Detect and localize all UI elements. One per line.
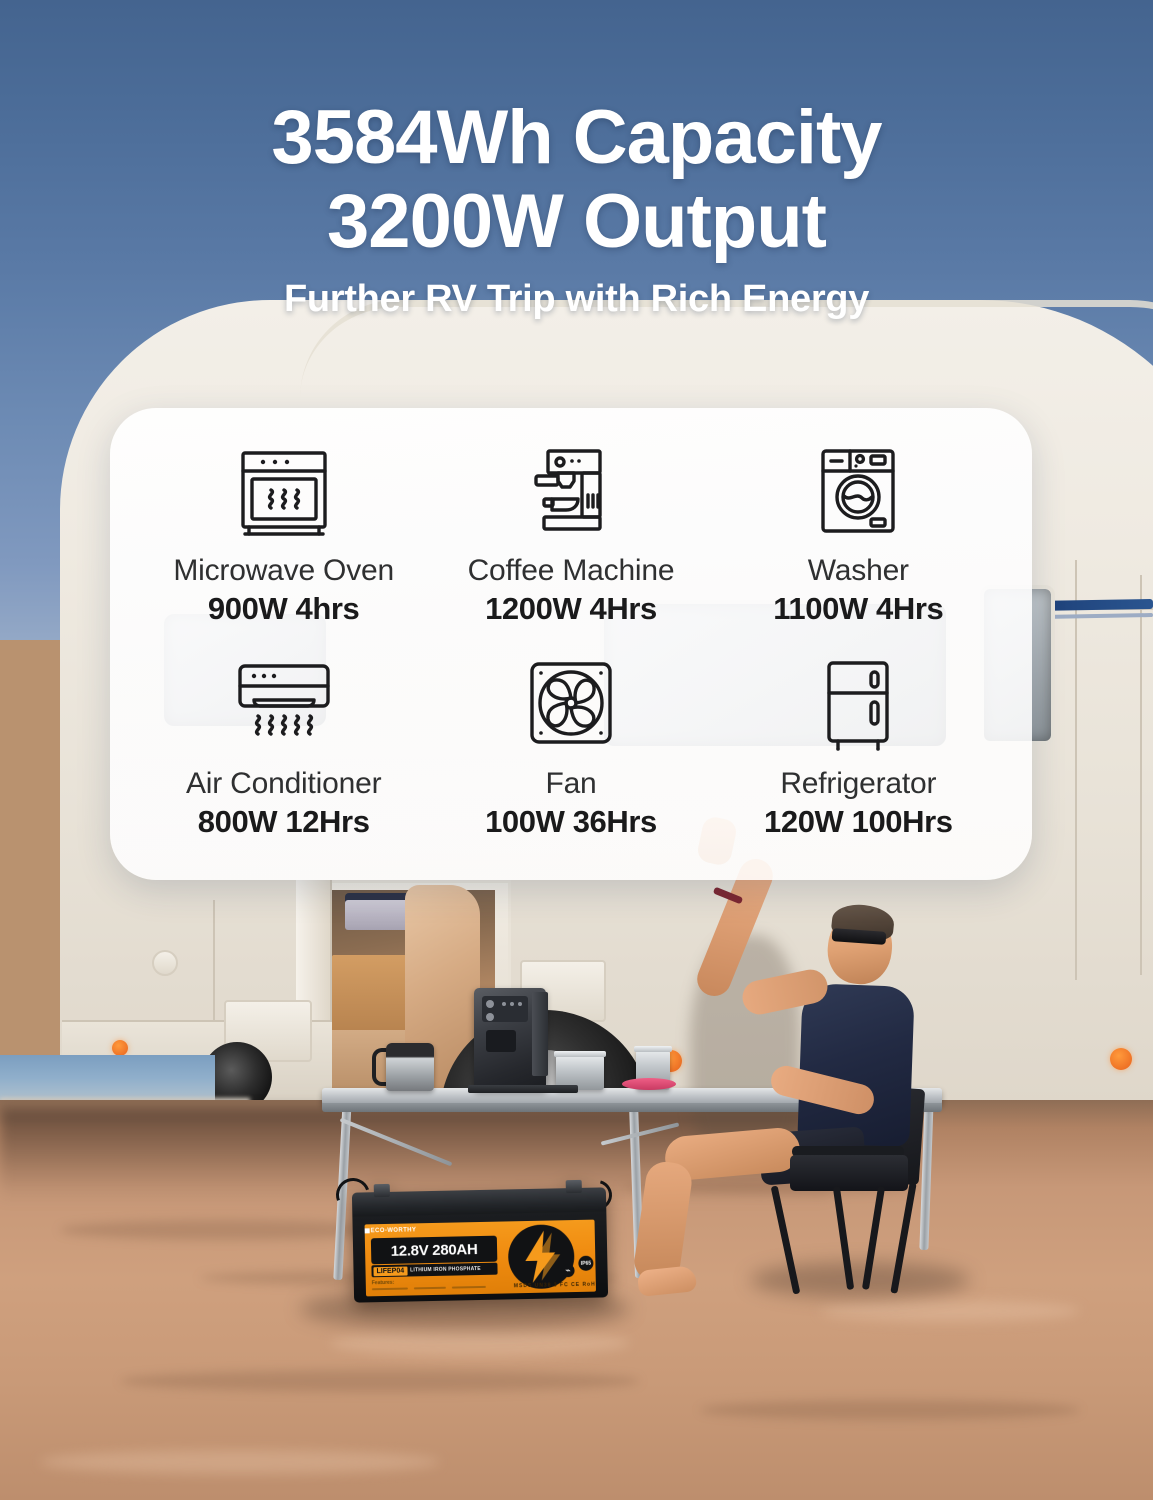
lightning-bolt-icon (508, 1224, 575, 1289)
battery-terminal-negative (374, 1184, 390, 1197)
fan-icon (522, 647, 620, 765)
appliance-card: Microwave Oven 900W 4hrs (110, 408, 1032, 880)
battery-product: ECO-WORTHY 12.8V 280AH LIFEP04 LITHIUM I… (352, 1187, 608, 1302)
microwave-oven-icon (235, 434, 333, 552)
battery-chemistry-row: LIFEP04 LITHIUM IRON PHOSPHATE (371, 1263, 497, 1278)
electric-kettle (386, 1043, 434, 1091)
battery-bolt-badge (508, 1224, 575, 1289)
rv-side-marker-light (112, 1040, 128, 1056)
rv-storage-hatch (152, 950, 178, 976)
rv-seam (1075, 560, 1077, 980)
battery-features-line (372, 1288, 408, 1291)
battery-features-line (414, 1287, 446, 1290)
battery-chemistry-full: LITHIUM IRON PHOSPHATE (410, 1266, 481, 1273)
appliance-grid: Microwave Oven 900W 4hrs (110, 408, 1032, 880)
battery-features-line (452, 1286, 486, 1289)
battery-certifications: MSDS UN38.3 FC CE RoHS (514, 1281, 596, 1289)
appliance-cell-refrigerator: Refrigerator 120W 100Hrs (715, 647, 1002, 860)
sand-highlight (40, 1450, 440, 1474)
ground-shadow (750, 1262, 970, 1298)
battery-label: ECO-WORTHY 12.8V 280AH LIFEP04 LITHIUM I… (365, 1220, 596, 1297)
appliance-cell-coffee-machine: Coffee Machine 1200W 4Hrs (427, 434, 714, 647)
coffee-machine-knob (486, 1013, 494, 1021)
appliance-cell-fan: Fan 100W 36Hrs (427, 647, 714, 860)
headline-subtitle: Further RV Trip with Rich Energy (0, 278, 1153, 321)
sand-ripple (700, 1400, 1080, 1420)
air-conditioner-icon (232, 647, 336, 765)
banner-stage: ECO-WORTHY 12.8V 280AH LIFEP04 LITHIUM I… (0, 0, 1153, 1500)
appliance-spec: 1200W 4Hrs (485, 591, 657, 627)
appliance-name: Fan (545, 767, 596, 801)
appliance-spec: 120W 100Hrs (764, 804, 953, 840)
appliance-spec: 1100W 4Hrs (773, 591, 943, 627)
refrigerator-icon (809, 647, 907, 765)
appliance-cell-washer: Washer 1100W 4Hrs (715, 434, 1002, 647)
appliance-cell-air-conditioner: Air Conditioner 800W 12Hrs (140, 647, 427, 860)
coffee-machine-water-tank (532, 992, 548, 1076)
battery-chemistry-badge: LIFEP04 (373, 1266, 407, 1276)
washer-icon (809, 434, 907, 552)
cooking-pot-lid (554, 1051, 606, 1057)
coffee-machine-button (510, 1002, 514, 1006)
battery-spec-text: 12.8V 280AH (371, 1236, 498, 1265)
sand-highlight (330, 1330, 630, 1356)
coffee-machine-spout (486, 1030, 516, 1052)
headline-line-2: 3200W Output (0, 180, 1153, 264)
appliance-name: Refrigerator (780, 767, 936, 801)
pink-plate (622, 1078, 676, 1090)
appliance-name: Microwave Oven (173, 554, 394, 588)
appliance-cell-microwave-oven: Microwave Oven 900W 4hrs (140, 434, 427, 647)
appliance-spec: 800W 12Hrs (198, 804, 370, 840)
coffee-machine-button (502, 1002, 506, 1006)
appliance-spec: 900W 4hrs (208, 591, 359, 627)
battery-features-title: Features: (372, 1280, 395, 1286)
man-torso-shirt (797, 983, 915, 1147)
ip-rating-badge: IP65 (578, 1256, 593, 1271)
rv-side-marker-light (1110, 1048, 1132, 1070)
sand-highlight (820, 1300, 1080, 1322)
headline-block: 3584Wh Capacity 3200W Output Further RV … (0, 96, 1153, 321)
coffee-machine-icon (522, 434, 620, 552)
appliance-spec: 100W 36Hrs (485, 804, 657, 840)
battery-brand-text: ECO-WORTHY (371, 1227, 417, 1234)
rv-seam (1140, 575, 1142, 975)
coffee-machine-knob (486, 1000, 494, 1008)
appliance-name: Air Conditioner (186, 767, 381, 801)
headline-line-1: 3584Wh Capacity (0, 96, 1153, 180)
battery-terminal-positive (566, 1180, 582, 1193)
coffee-machine-button (518, 1002, 522, 1006)
sand-ripple (120, 1370, 640, 1392)
brand-mark (365, 1228, 370, 1233)
appliance-name: Coffee Machine (468, 554, 675, 588)
appliance-name: Washer (808, 554, 909, 588)
camping-chair-seat (790, 1155, 908, 1191)
cooking-pot-lid (634, 1046, 672, 1052)
table-tray (468, 1085, 578, 1093)
